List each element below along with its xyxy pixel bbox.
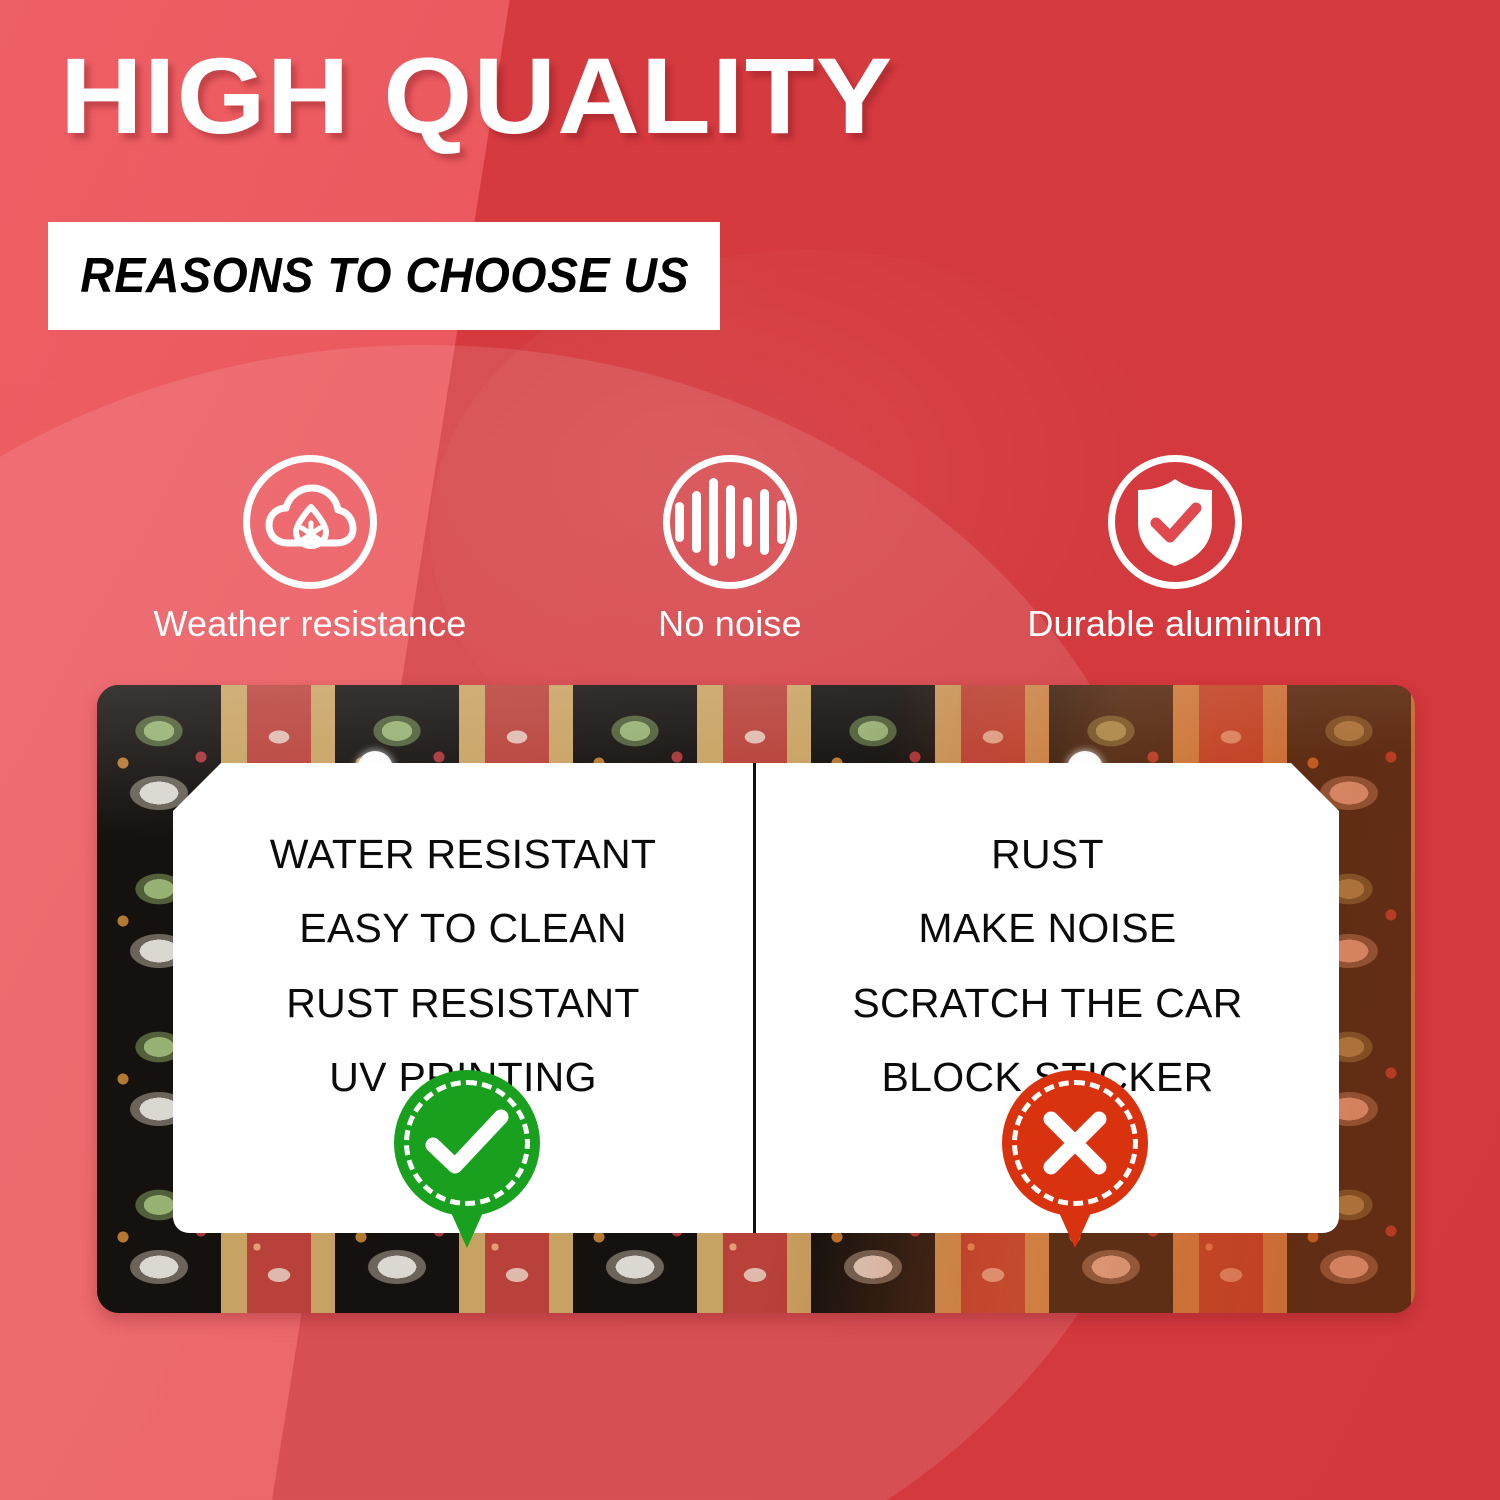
- list-item: SCRATCH THE CAR: [852, 974, 1242, 1033]
- feature-label: No noise: [658, 603, 802, 645]
- pros-check-badge: [394, 1070, 540, 1220]
- infographic-canvas: HIGH QUALITY REASONS TO CHOOSE US Weathe…: [0, 0, 1500, 1500]
- waveform-bars: [675, 478, 786, 566]
- feature-weather-resistance: Weather resistance: [100, 455, 520, 665]
- feature-label: Weather resistance: [153, 603, 466, 645]
- list-item: WATER RESISTANT: [270, 825, 656, 884]
- feature-durable-aluminum: Durable aluminum: [940, 455, 1410, 665]
- feature-row: Weather resistance No noise: [100, 455, 1410, 665]
- cloud-water-snow-icon: [243, 455, 377, 589]
- badge-bubble: [394, 1070, 540, 1216]
- list-item: RUST RESISTANT: [286, 974, 640, 1033]
- license-plate-frame-product: WATER RESISTANT EASY TO CLEAN RUST RESIS…: [97, 685, 1415, 1313]
- list-item: EASY TO CLEAN: [299, 899, 627, 958]
- page-title: HIGH QUALITY: [60, 38, 893, 155]
- list-item: RUST: [991, 825, 1104, 884]
- subtitle-text: REASONS TO CHOOSE US: [48, 248, 689, 304]
- feature-label: Durable aluminum: [1027, 603, 1322, 645]
- cons-list: RUST MAKE NOISE SCRATCH THE CAR BLOCK ST…: [756, 825, 1339, 1108]
- subtitle-banner: REASONS TO CHOOSE US: [48, 222, 720, 330]
- feature-no-noise: No noise: [520, 455, 940, 665]
- pros-list: WATER RESISTANT EASY TO CLEAN RUST RESIS…: [173, 825, 753, 1108]
- check-mark-icon: [424, 1107, 510, 1179]
- cross-mark-icon: [1038, 1106, 1112, 1180]
- badge-bubble: [1002, 1070, 1148, 1216]
- sound-wave-icon: [663, 455, 797, 589]
- cons-cross-badge: [1002, 1070, 1148, 1220]
- list-item: MAKE NOISE: [918, 899, 1176, 958]
- shield-check-icon: [1108, 455, 1242, 589]
